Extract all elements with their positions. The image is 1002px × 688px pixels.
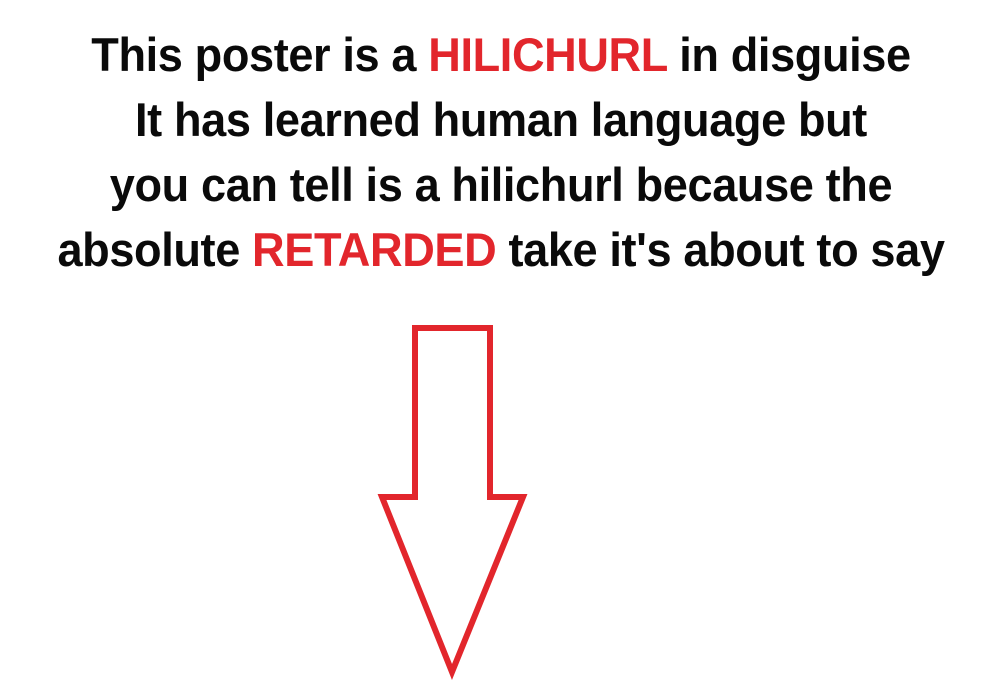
caption-line-4-segment-3: take it's about to say	[496, 223, 944, 276]
down-arrow-icon	[382, 328, 523, 672]
caption-line-1-highlight-hilichurl: HILICHURL	[428, 28, 667, 81]
caption-line-4-segment-1: absolute	[57, 223, 252, 276]
caption-line-2: It has learned human language but	[20, 87, 982, 152]
caption-line-3: you can tell is a hilichurl because the	[20, 152, 982, 217]
caption-line-4: absolute RETARDED take it's about to say	[20, 217, 982, 282]
down-arrow-container	[370, 318, 535, 686]
meme-canvas: This poster is a HILICHURL in disguise I…	[0, 0, 1002, 688]
caption-line-3-segment-1: you can tell is a hilichurl because the	[110, 158, 892, 211]
caption-line-1: This poster is a HILICHURL in disguise	[20, 22, 982, 87]
caption-line-1-segment-3: in disguise	[667, 28, 911, 81]
caption-line-2-segment-1: It has learned human language but	[135, 93, 867, 146]
caption-line-4-highlight-retarded: RETARDED	[252, 223, 496, 276]
down-arrow-svg	[370, 318, 535, 686]
caption-line-1-segment-1: This poster is a	[91, 28, 428, 81]
caption-block: This poster is a HILICHURL in disguise I…	[0, 22, 1002, 282]
